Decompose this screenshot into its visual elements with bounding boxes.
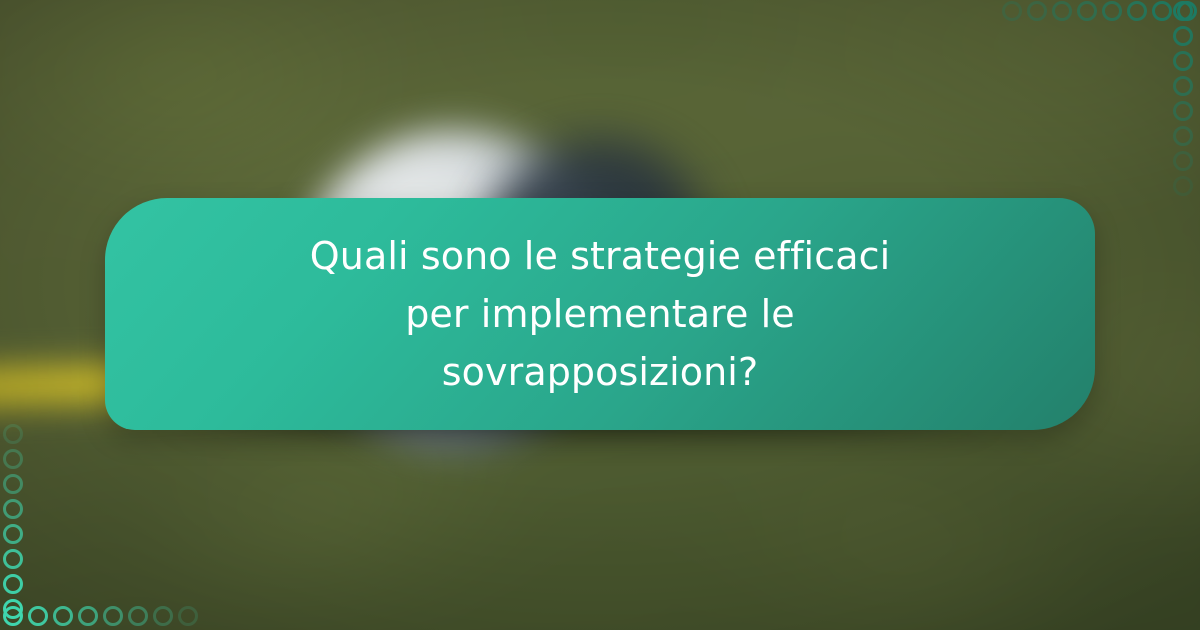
decor-rings-bottom-row (3, 606, 198, 626)
ring-icon (1173, 151, 1193, 171)
ring-icon (1027, 1, 1047, 21)
ring-icon (1173, 76, 1193, 96)
social-card-canvas: Quali sono le strategie efficaci per imp… (0, 0, 1200, 630)
ring-icon (28, 606, 48, 626)
ring-icon (3, 549, 23, 569)
ring-icon (1173, 1, 1193, 21)
ring-icon (3, 524, 23, 544)
ring-icon (1052, 1, 1072, 21)
ring-icon (1173, 101, 1193, 121)
ring-icon (53, 606, 73, 626)
ring-icon (1173, 51, 1193, 71)
decor-rings-top-row (1002, 1, 1197, 21)
ring-icon (1173, 126, 1193, 146)
quote-card: Quali sono le strategie efficaci per imp… (105, 198, 1095, 430)
ring-icon (1127, 1, 1147, 21)
ring-icon (78, 606, 98, 626)
ring-icon (3, 574, 23, 594)
ring-icon (3, 424, 23, 444)
ring-icon (103, 606, 123, 626)
ring-icon (153, 606, 173, 626)
ring-icon (1173, 176, 1193, 196)
decor-rings-right-column (1173, 1, 1193, 196)
ring-icon (3, 449, 23, 469)
ring-icon (3, 599, 23, 619)
ring-icon (3, 474, 23, 494)
ring-icon (1173, 26, 1193, 46)
ring-icon (128, 606, 148, 626)
ring-icon (1077, 1, 1097, 21)
ring-icon (1152, 1, 1172, 21)
decor-rings-left-column (3, 424, 23, 619)
ring-icon (1102, 1, 1122, 21)
quote-text: Quali sono le strategie efficaci per imp… (300, 227, 900, 401)
ring-icon (1002, 1, 1022, 21)
ring-icon (3, 499, 23, 519)
ring-icon (178, 606, 198, 626)
